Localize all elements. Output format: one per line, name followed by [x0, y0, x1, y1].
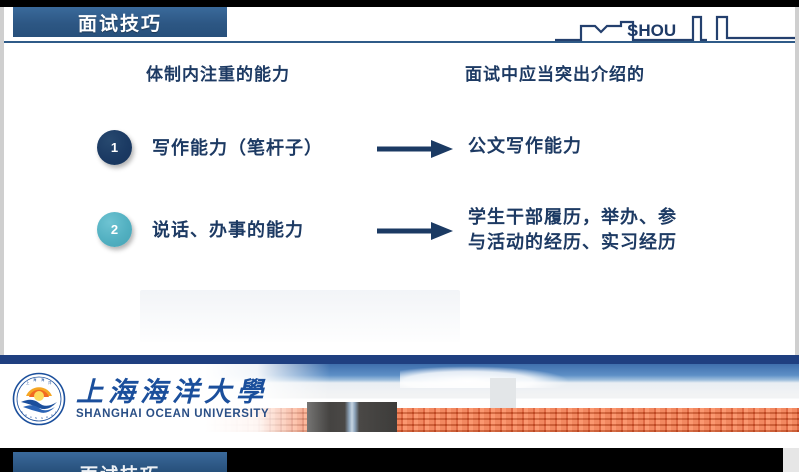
letterbox-top [0, 0, 799, 7]
ability-label-2: 说话、办事的能力 [152, 216, 304, 242]
svg-text:H: H [46, 415, 48, 419]
university-logo: 上 海 海 洋 SHA NGH AI 上海海洋大學 SHANGHAI OCEAN… [12, 372, 269, 426]
background-watermark [140, 290, 460, 342]
next-slide-title: 面试技巧 [80, 461, 160, 472]
svg-text:G: G [41, 416, 43, 420]
slide-title-bar: 面试技巧 [13, 7, 227, 37]
right-arrow-icon [377, 138, 455, 160]
content-row-1: 1 写作能力（笔杆子） 公文写作能力 [0, 122, 799, 174]
frame-edge-left [0, 7, 4, 355]
svg-text:S: S [21, 410, 23, 414]
university-seal-icon: 上 海 海 洋 SHA NGH AI [12, 372, 66, 426]
svg-text:A: A [51, 413, 53, 417]
highlight-text-2: 学生干部履历，举办、参 与活动的经历、实习经历 [468, 205, 677, 255]
photo-clouds [400, 366, 570, 388]
ability-label-1: 写作能力（笔杆子） [152, 134, 323, 160]
row-number-badge-2: 2 [97, 212, 132, 247]
next-slide-right-edge [783, 448, 799, 472]
university-name-cn: 上海海洋大學 [76, 377, 269, 407]
footer-divider [0, 355, 799, 364]
footer-banner: 上 海 海 洋 SHA NGH AI 上海海洋大學 SHANGHAI OCEAN… [0, 364, 799, 448]
university-name-block: 上海海洋大學 SHANGHAI OCEAN UNIVERSITY [76, 377, 269, 421]
column-header-left: 体制内注重的能力 [146, 60, 290, 85]
column-header-right: 面试中应当突出介绍的 [465, 60, 645, 85]
content-row-2: 2 说话、办事的能力 学生干部履历，举办、参 与活动的经历、实习经历 [0, 200, 799, 264]
svg-text:N: N [35, 416, 37, 420]
highlight-text-2-line2: 与活动的经历、实习经历 [468, 230, 677, 255]
row-number-badge-1: 1 [97, 130, 132, 165]
page-title: 面试技巧 [78, 9, 162, 36]
right-arrow-icon [377, 220, 455, 242]
next-slide-title-bar: 面试技巧 [13, 452, 227, 472]
shou-label: SHOU [627, 21, 676, 41]
highlight-text-1: 公文写作能力 [468, 134, 582, 159]
highlight-text-2-line1: 学生干部履历，举办、参 [468, 205, 677, 230]
svg-text:H: H [25, 413, 27, 417]
banner-bottom-strip [0, 432, 799, 448]
photo-wall-block [490, 378, 516, 412]
svg-text:A: A [30, 415, 32, 419]
university-name-en: SHANGHAI OCEAN UNIVERSITY [76, 407, 269, 421]
next-slide-peek: 面试技巧 [0, 448, 799, 472]
presentation-slide: 面试技巧 SHOU 体制内注重的能力 面试中应当突出介绍的 1 写作能力（笔杆子… [0, 0, 799, 472]
frame-edge-right [795, 7, 799, 355]
